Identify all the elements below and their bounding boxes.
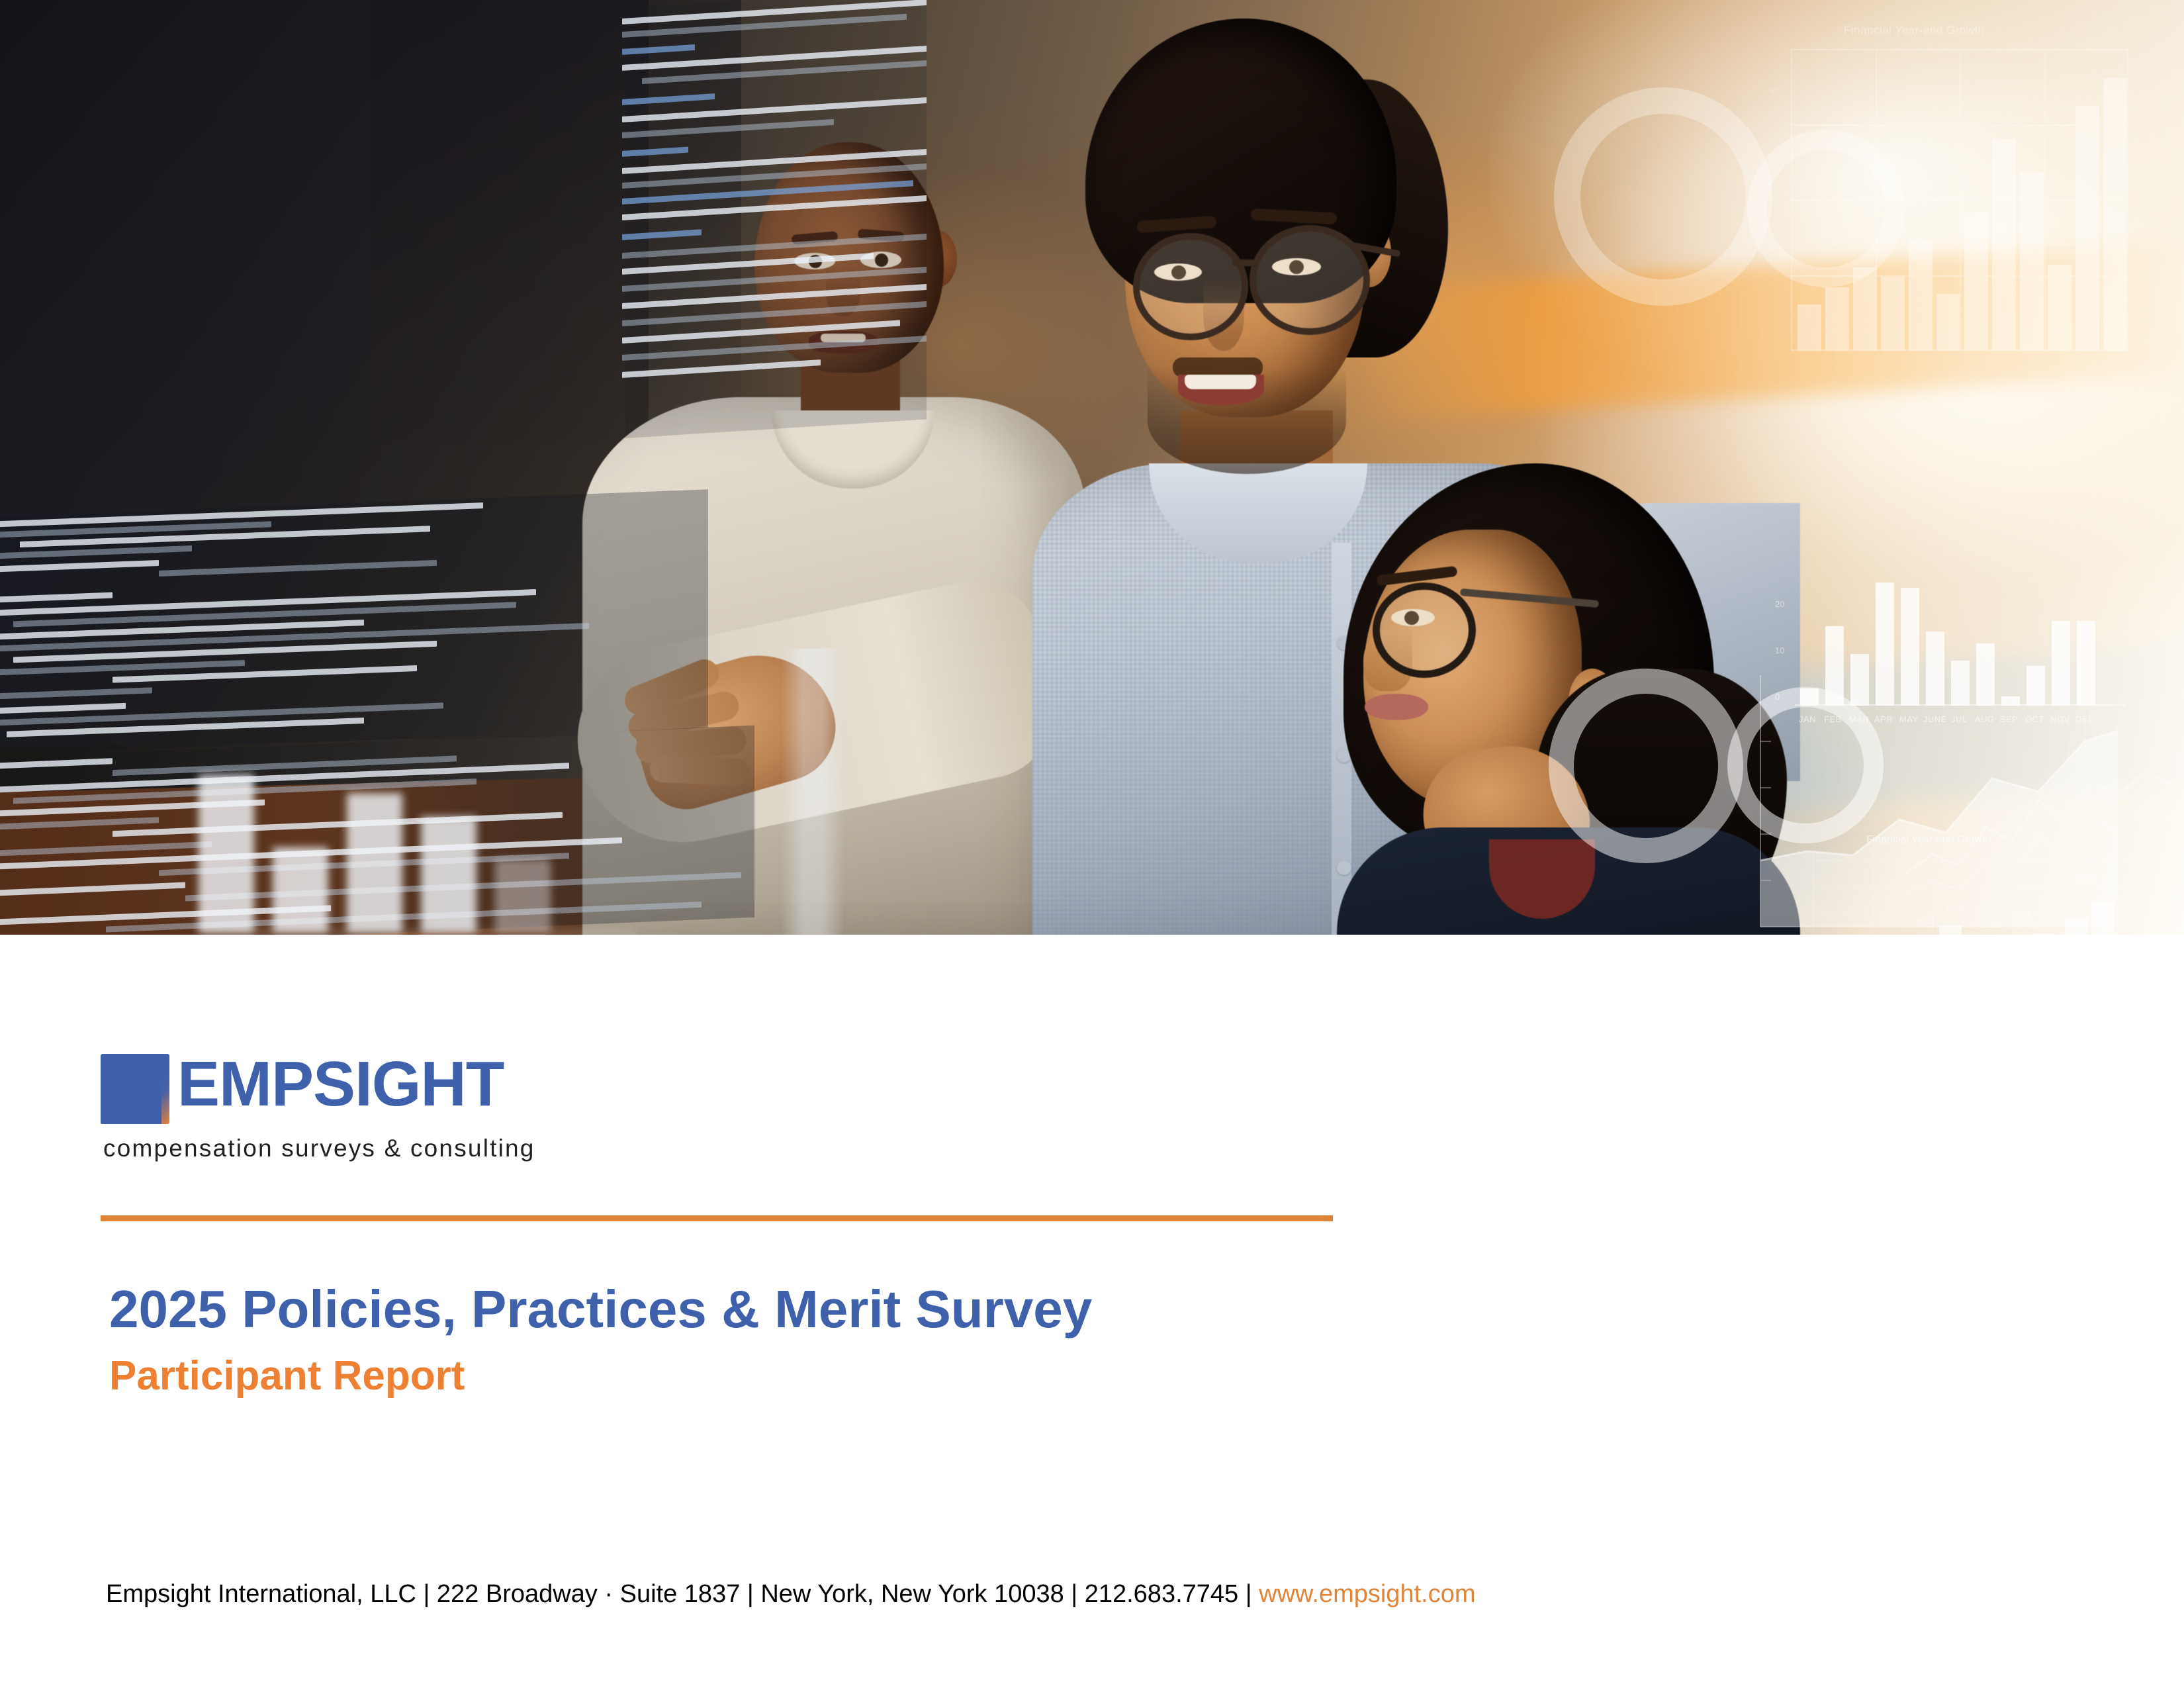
person-three-lips [1365, 694, 1428, 720]
empsight-logo: EMPSIGHT [101, 1054, 504, 1124]
person-one-nose [826, 266, 860, 316]
eyeglasses-icon [1133, 233, 1248, 340]
person-one-eye-right [860, 252, 901, 268]
page-title: 2025 Policies, Practices & Merit Survey [109, 1279, 1092, 1340]
eyeglasses-icon [1373, 583, 1476, 678]
cover-hero-image: Financial Year-end Growth 10 [0, 0, 2184, 935]
cover-page-body: EMPSIGHT compensation surveys & consulti… [0, 935, 2184, 1688]
orange-divider-rule [101, 1215, 1333, 1221]
person-two-teeth [1185, 375, 1256, 389]
empsight-square-mark-icon [101, 1054, 169, 1124]
website-link[interactable]: www.empsight.com [1259, 1580, 1475, 1608]
eyeglasses-icon [1250, 225, 1370, 335]
footer-text: Empsight International, LLC | 222 Broadw… [106, 1580, 1259, 1608]
person-one-finger [649, 755, 749, 785]
person-one-teeth [821, 334, 866, 342]
person-two-button [1337, 861, 1351, 875]
page-subtitle: Participant Report [109, 1352, 465, 1399]
monitor-panel-upper [371, 0, 741, 444]
eyeglasses-bridge [1232, 259, 1255, 266]
footer-contact-line: Empsight International, LLC | 222 Broadw… [106, 1580, 1475, 1609]
logo-tagline: compensation surveys & consulting [103, 1135, 535, 1162]
logo-wordmark: EMPSIGHT [177, 1054, 504, 1115]
